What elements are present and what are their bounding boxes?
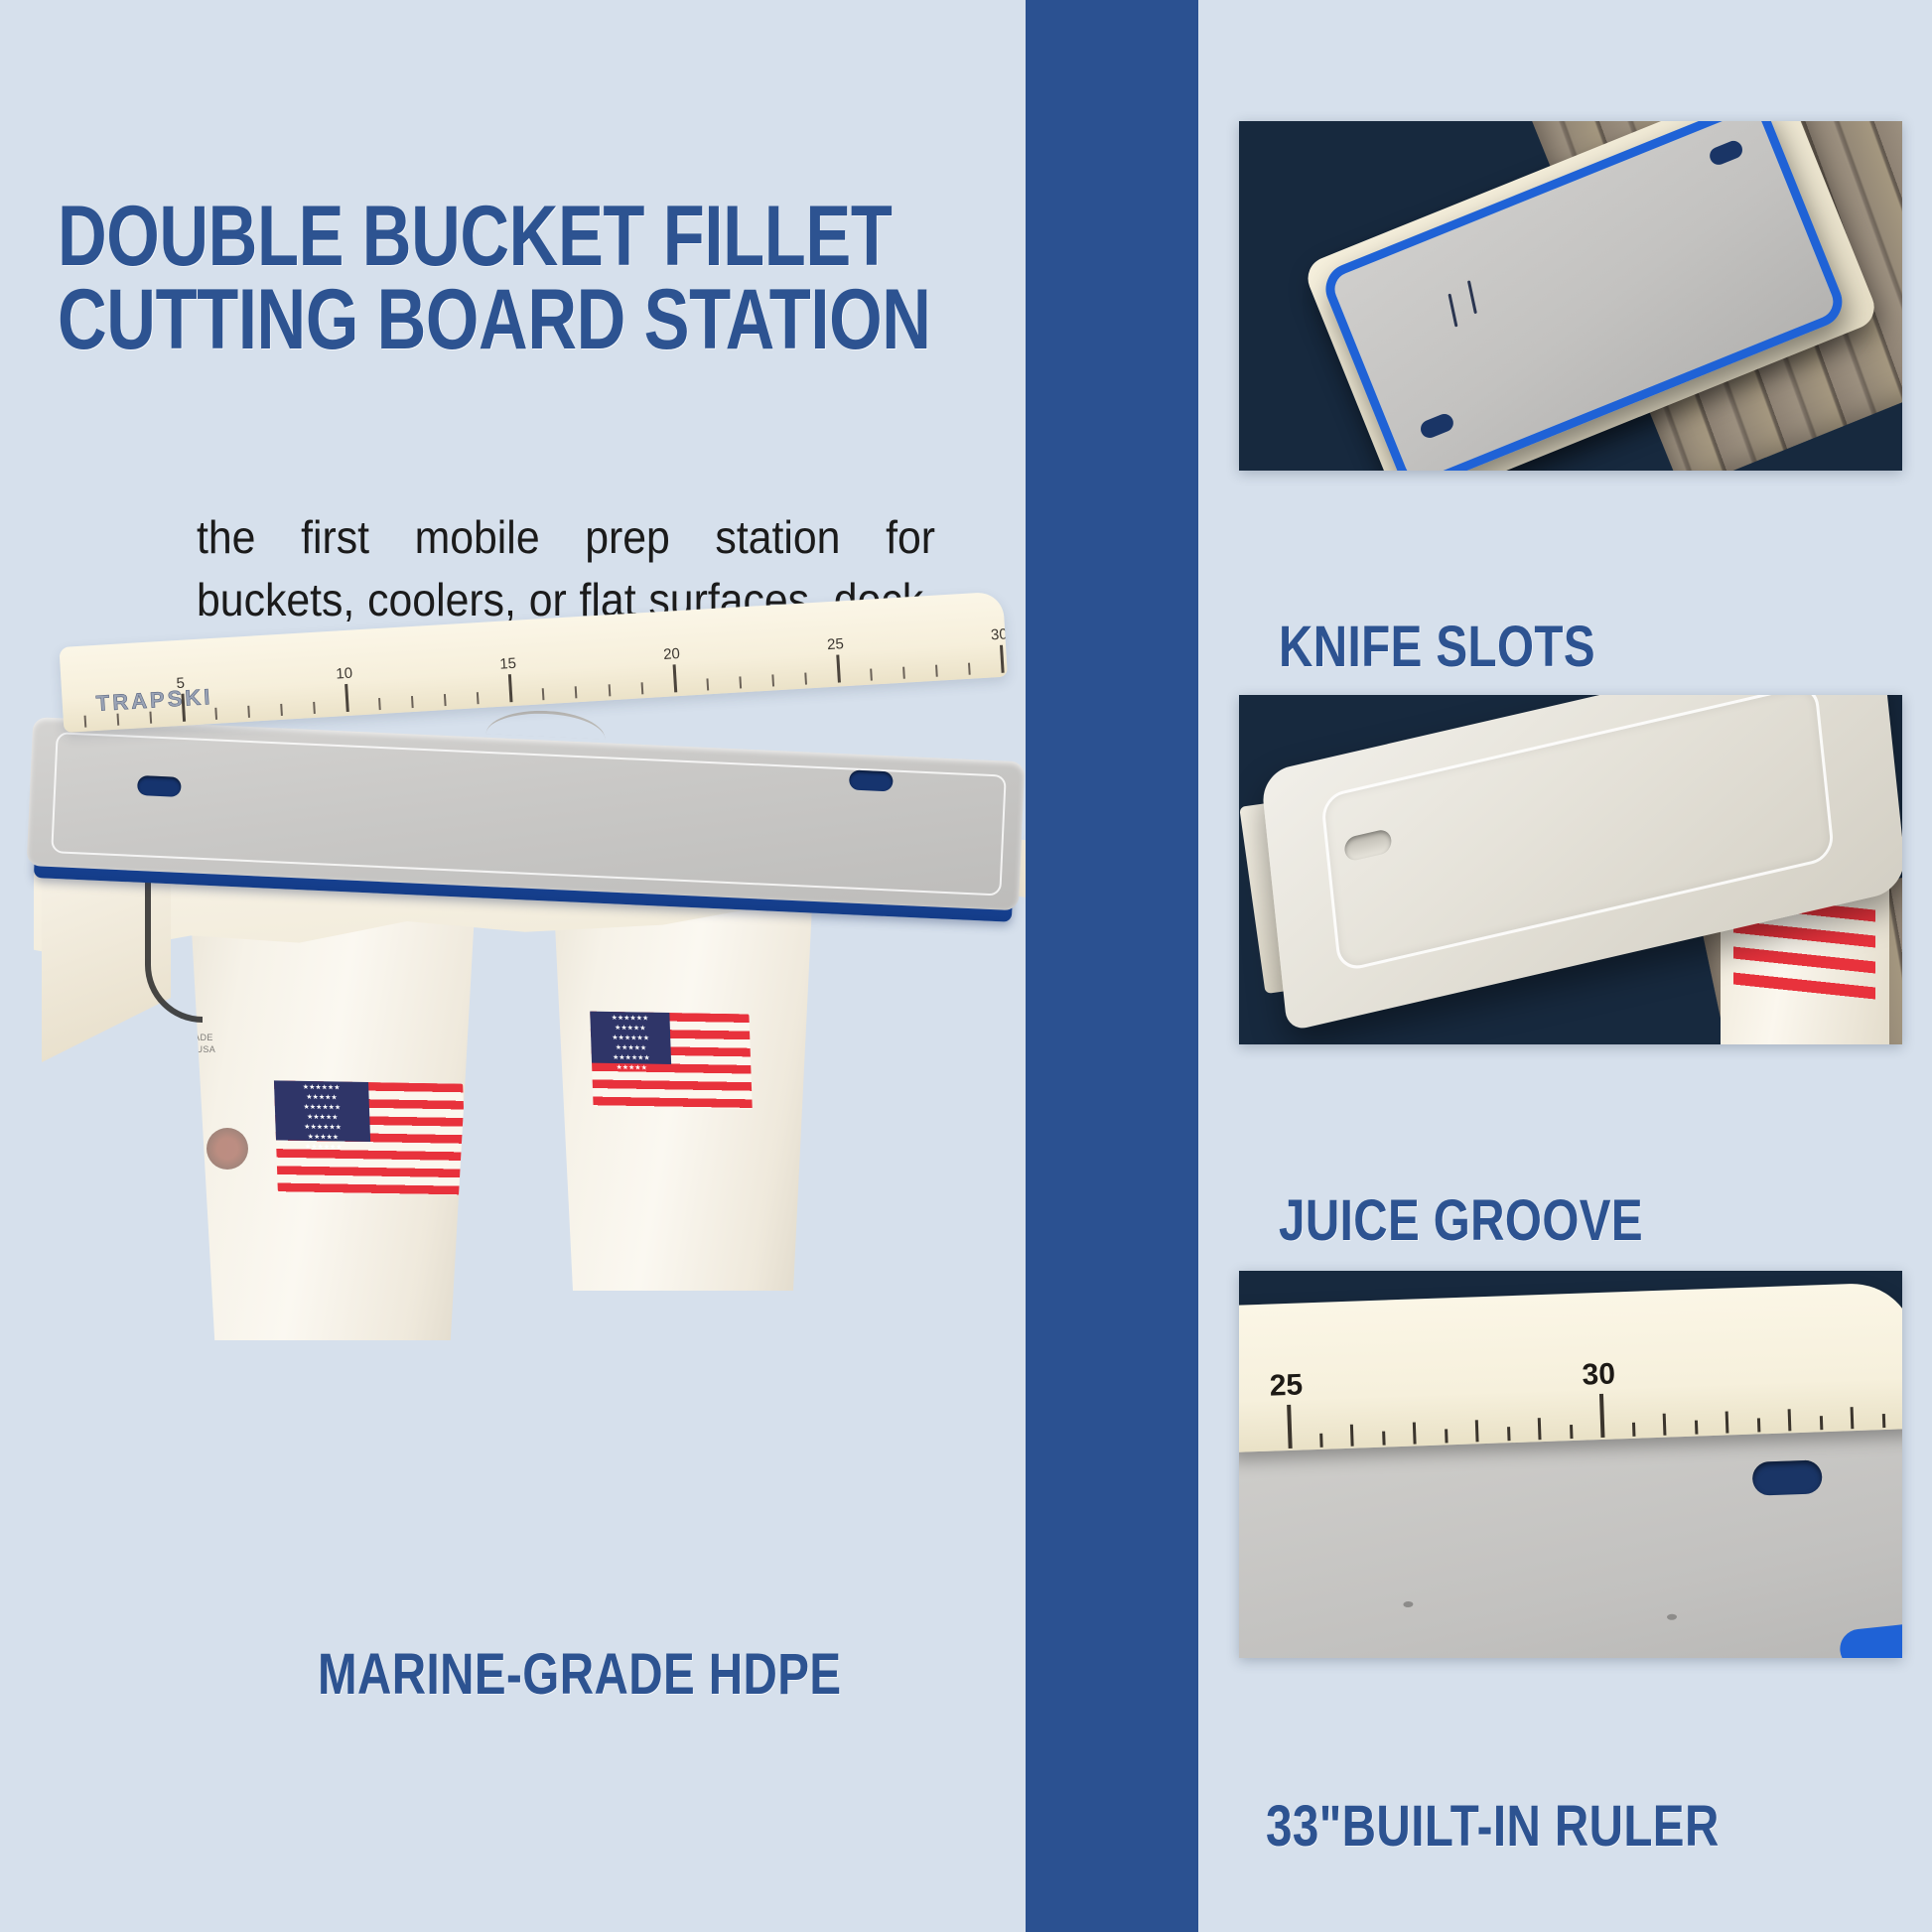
photo-builtin-ruler: 2530 xyxy=(1239,1271,1902,1658)
knife-hole-icon xyxy=(849,769,894,791)
ruler-tick xyxy=(575,686,578,698)
knife-slot-icon xyxy=(1448,294,1457,328)
caption-juice-groove: JUICE GROOVE xyxy=(1279,1187,1643,1254)
ruler-tick xyxy=(1000,645,1005,673)
caption-marine-grade-hdpe: MARINE-GRADE HDPE xyxy=(318,1641,842,1708)
screw-icon xyxy=(1404,1601,1414,1607)
ruler-number: 5 xyxy=(176,675,185,692)
ruler-tick xyxy=(1318,1434,1321,1448)
ruler-tick xyxy=(345,684,349,712)
ruler-tick xyxy=(1599,1394,1605,1438)
ruler-tick xyxy=(313,702,316,714)
ruler-tick xyxy=(1412,1423,1416,1445)
ruler-tick xyxy=(1694,1421,1697,1435)
ruler-tick xyxy=(1474,1421,1478,1443)
ruler-tick xyxy=(1381,1432,1384,1446)
us-flag-icon: ★★★★★★ ★★★★★ ★★★★★★ ★★★★★ ★★★★★★ ★★★★★ ★… xyxy=(274,1080,467,1194)
headline-line-1: DOUBLE BUCKET FILLET xyxy=(58,195,804,278)
ruler-tick xyxy=(968,663,971,675)
ruler-tick xyxy=(1787,1410,1791,1432)
ruler-tick xyxy=(508,674,513,702)
ruler-tick xyxy=(1756,1419,1759,1433)
ruler-tick xyxy=(411,696,414,708)
flag-canton: ★★★★★★ ★★★★★ ★★★★★★ ★★★★★ ★★★★★★ ★★★★★ ★… xyxy=(274,1080,370,1142)
ruler-tick xyxy=(1569,1426,1572,1440)
builtin-ruler-rail: 2530 xyxy=(1239,1282,1902,1452)
ruler-tick xyxy=(804,672,807,684)
ruler-tick xyxy=(116,714,119,726)
ruler-tick xyxy=(870,669,873,681)
left-column: DOUBLE BUCKET FILLET CUTTING BOARD STATI… xyxy=(0,0,1026,1932)
ruler-tick xyxy=(902,667,905,679)
ruler-tick xyxy=(608,684,611,696)
ruler-tick xyxy=(542,688,545,700)
photo-juice-groove xyxy=(1239,695,1902,1044)
ruler-tick xyxy=(378,698,381,710)
ruler-number: 20 xyxy=(663,645,681,663)
bucket-left: MADE IN USA ★★★★★★ ★★★★★ ★★★★★★ ★★★★★ ★★… xyxy=(169,874,496,1340)
infographic-page: DOUBLE BUCKET FILLET CUTTING BOARD STATI… xyxy=(0,0,1932,1932)
caption-builtin-ruler: 33"BUILT-IN RULER xyxy=(1266,1793,1720,1860)
screw-icon xyxy=(1667,1613,1677,1619)
ruler-tick xyxy=(1537,1419,1541,1441)
ruler-tick xyxy=(149,712,152,724)
ruler-tick xyxy=(1631,1423,1634,1437)
headline-line-2: CUTTING BOARD STATION xyxy=(58,278,804,361)
ruler-tick xyxy=(935,665,938,677)
ruler-tick xyxy=(1444,1430,1447,1444)
ruler-tick xyxy=(1725,1412,1728,1434)
ruler-tick xyxy=(83,716,86,728)
page-title: DOUBLE BUCKET FILLET CUTTING BOARD STATI… xyxy=(58,195,804,362)
blue-trim-edge xyxy=(1839,1618,1902,1658)
photo-knife-slots xyxy=(1239,121,1902,471)
ruler-tick xyxy=(280,704,283,716)
ruler-tick xyxy=(1287,1405,1293,1449)
ruler-tick xyxy=(1662,1414,1666,1436)
ruler-number: 30 xyxy=(1582,1358,1616,1393)
vertical-divider-band xyxy=(1026,0,1198,1932)
ruler-tick xyxy=(1350,1425,1354,1447)
ruler-tick xyxy=(672,664,677,692)
ruler-tick xyxy=(181,694,186,722)
ruler-tick xyxy=(1850,1408,1854,1430)
ruler-tick xyxy=(247,706,250,718)
bucket-seal-icon xyxy=(207,1128,248,1170)
cutting-board-surface xyxy=(1239,1413,1902,1658)
ruler-tick xyxy=(444,694,447,706)
knife-hole-icon xyxy=(1418,412,1455,441)
ruler-tick xyxy=(477,692,480,704)
caption-knife-slots: KNIFE SLOTS xyxy=(1279,614,1595,680)
ruler-number: 25 xyxy=(1269,1369,1304,1404)
ruler-number: 15 xyxy=(499,655,517,673)
ruler-tick xyxy=(706,678,709,690)
knife-hole-icon xyxy=(1752,1459,1823,1495)
juice-groove-line xyxy=(51,732,1007,896)
us-flag-icon: ★★★★★★ ★★★★★ ★★★★★★ ★★★★★ ★★★★★★ ★★★★★ xyxy=(590,1012,753,1110)
ruler-tick xyxy=(1819,1417,1822,1431)
ruler-tick xyxy=(640,682,643,694)
ruler-tick xyxy=(836,654,841,682)
knife-hole-icon xyxy=(137,775,182,797)
ruler-tick xyxy=(771,674,774,686)
bucket-print-text: MADE IN USA xyxy=(183,1033,216,1055)
knife-hole-icon xyxy=(1708,139,1745,168)
ruler-tick xyxy=(739,676,742,688)
ruler-tick xyxy=(1506,1428,1509,1442)
ruler-number: 25 xyxy=(827,635,845,653)
ruler-tick xyxy=(214,708,217,720)
flag-canton: ★★★★★★ ★★★★★ ★★★★★★ ★★★★★ ★★★★★★ ★★★★★ xyxy=(590,1012,671,1064)
ruler-tick xyxy=(1881,1415,1884,1429)
ruler-number: 30 xyxy=(991,625,1008,643)
ruler-number: 10 xyxy=(336,665,353,683)
knife-slot-icon xyxy=(1467,281,1477,315)
